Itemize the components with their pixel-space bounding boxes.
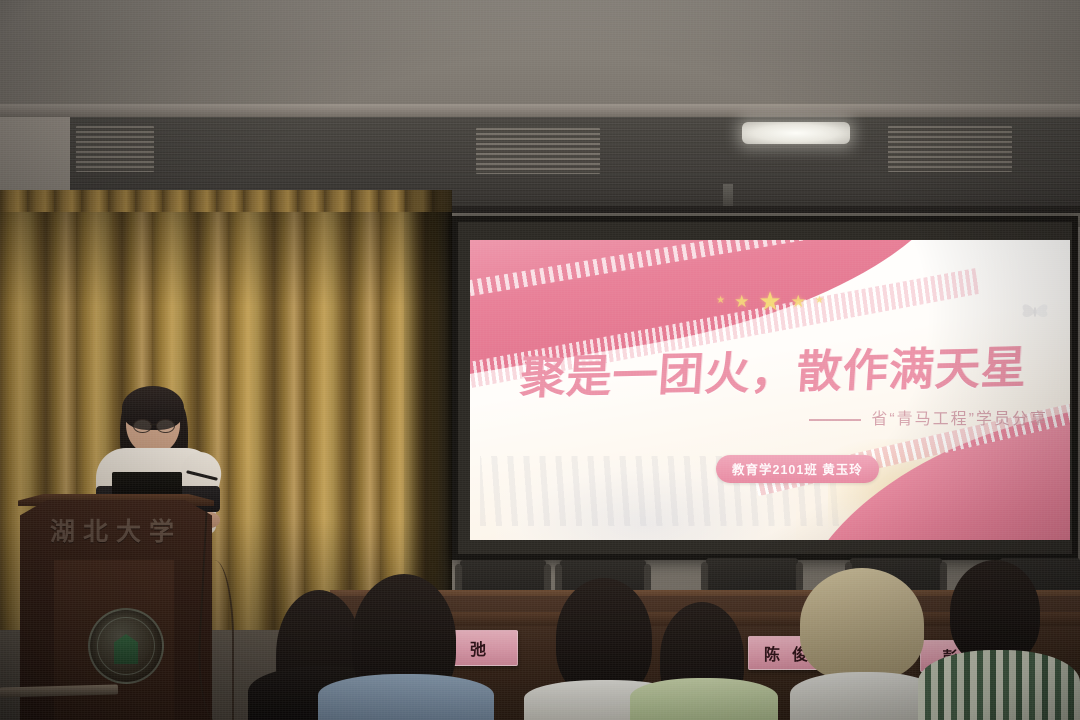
ceiling-lip <box>0 104 1080 118</box>
vent-grille-1 <box>76 126 154 172</box>
presenter-glasses <box>133 419 175 431</box>
vent-grille-3 <box>888 126 1012 172</box>
star-2: ★ <box>734 293 749 310</box>
star-3: ★ <box>758 288 781 314</box>
university-emblem-icon <box>88 608 164 684</box>
glasses-lens-right <box>156 419 175 433</box>
ceiling-light-fixture <box>742 122 850 144</box>
star-4: ★ <box>791 293 806 310</box>
presentation-photo: ★ ★ ★ ★ ★ 聚是一团火，散作满天星 省“青马工程”学员分享 教育学210… <box>0 0 1080 720</box>
subtitle-text: 省“青马工程”学员分享 <box>871 411 1048 428</box>
glasses-lens-left <box>133 419 152 433</box>
slide-title: 聚是一团火，散作满天星 <box>501 330 1046 406</box>
podium-institution-text: 湖北大学 <box>28 512 204 548</box>
slide-star-row: ★ ★ ★ ★ ★ <box>470 288 1070 314</box>
slide-presenter-badge: 教育学2101班 黄玉玲 <box>716 455 879 483</box>
subtitle-rule <box>809 419 861 421</box>
projected-slide: ★ ★ ★ ★ ★ 聚是一团火，散作满天星 省“青马工程”学员分享 教育学210… <box>470 240 1070 540</box>
ceiling <box>0 0 1080 112</box>
chair-arm-right <box>940 562 947 592</box>
star-5: ★ <box>815 296 824 306</box>
curtain-valance <box>0 190 452 212</box>
audience-garment-green-shirt <box>630 678 778 720</box>
audience-garment-striped-shirt <box>918 650 1080 720</box>
slide-subtitle: 省“青马工程”学员分享 <box>809 405 1048 429</box>
vent-grille-2 <box>476 128 600 174</box>
chair-arm-right <box>796 562 803 592</box>
chair-arm-left <box>701 562 708 592</box>
audience-beanie-hat <box>800 568 924 680</box>
audience-head-6 <box>950 560 1040 664</box>
audience-garment-blue-shirt <box>318 674 494 720</box>
star-1: ★ <box>716 296 725 306</box>
